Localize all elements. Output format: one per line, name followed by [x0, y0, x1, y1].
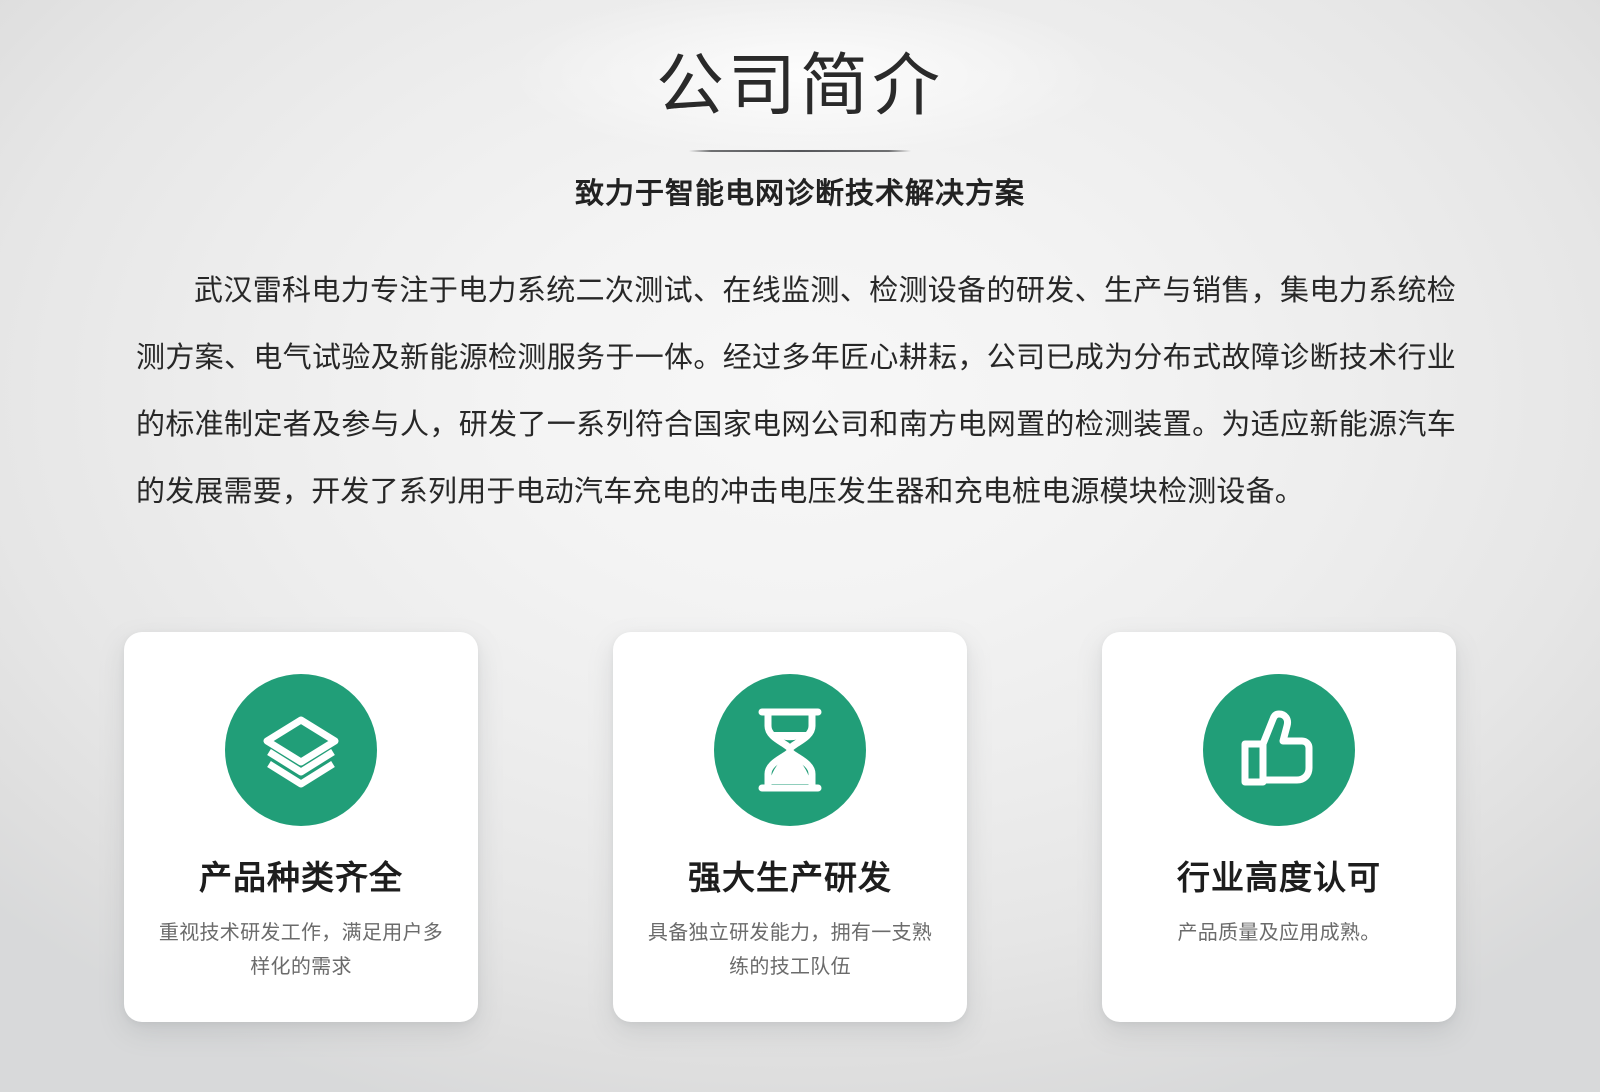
card-description: 具备独立研发能力，拥有一支熟练的技工队伍 [644, 916, 936, 984]
feature-card[interactable]: 产品种类齐全 重视技术研发工作，满足用户多样化的需求 [124, 632, 478, 1022]
card-title: 产品种类齐全 [199, 856, 403, 900]
card-title: 行业高度认可 [1177, 856, 1381, 900]
card-icon-circle [225, 674, 377, 826]
feature-card[interactable]: 行业高度认可 产品质量及应用成熟。 [1102, 632, 1456, 1022]
page-header: 公司简介 致力于智能电网诊断技术解决方案 [0, 44, 1600, 214]
card-description: 重视技术研发工作，满足用户多样化的需求 [155, 916, 447, 984]
card-icon-circle [1203, 674, 1355, 826]
page-title: 公司简介 [0, 44, 1600, 128]
feature-card[interactable]: 强大生产研发 具备独立研发能力，拥有一支熟练的技工队伍 [613, 632, 967, 1022]
layers-icon [259, 708, 343, 792]
page-subtitle: 致力于智能电网诊断技术解决方案 [0, 174, 1600, 214]
company-intro-page: 公司简介 致力于智能电网诊断技术解决方案 武汉雷科电力专注于电力系统二次测试、在… [0, 0, 1600, 1092]
feature-card-list: 产品种类齐全 重视技术研发工作，满足用户多样化的需求 [124, 632, 1456, 1022]
company-intro-paragraph: 武汉雷科电力专注于电力系统二次测试、在线监测、检测设备的研发、生产与销售，集电力… [136, 258, 1456, 526]
hourglass-icon [750, 706, 830, 794]
card-icon-circle [714, 674, 866, 826]
thumbs-up-icon [1237, 708, 1321, 792]
card-title: 强大生产研发 [688, 856, 892, 900]
title-divider [689, 150, 911, 152]
card-description: 产品质量及应用成熟。 [1133, 916, 1425, 950]
